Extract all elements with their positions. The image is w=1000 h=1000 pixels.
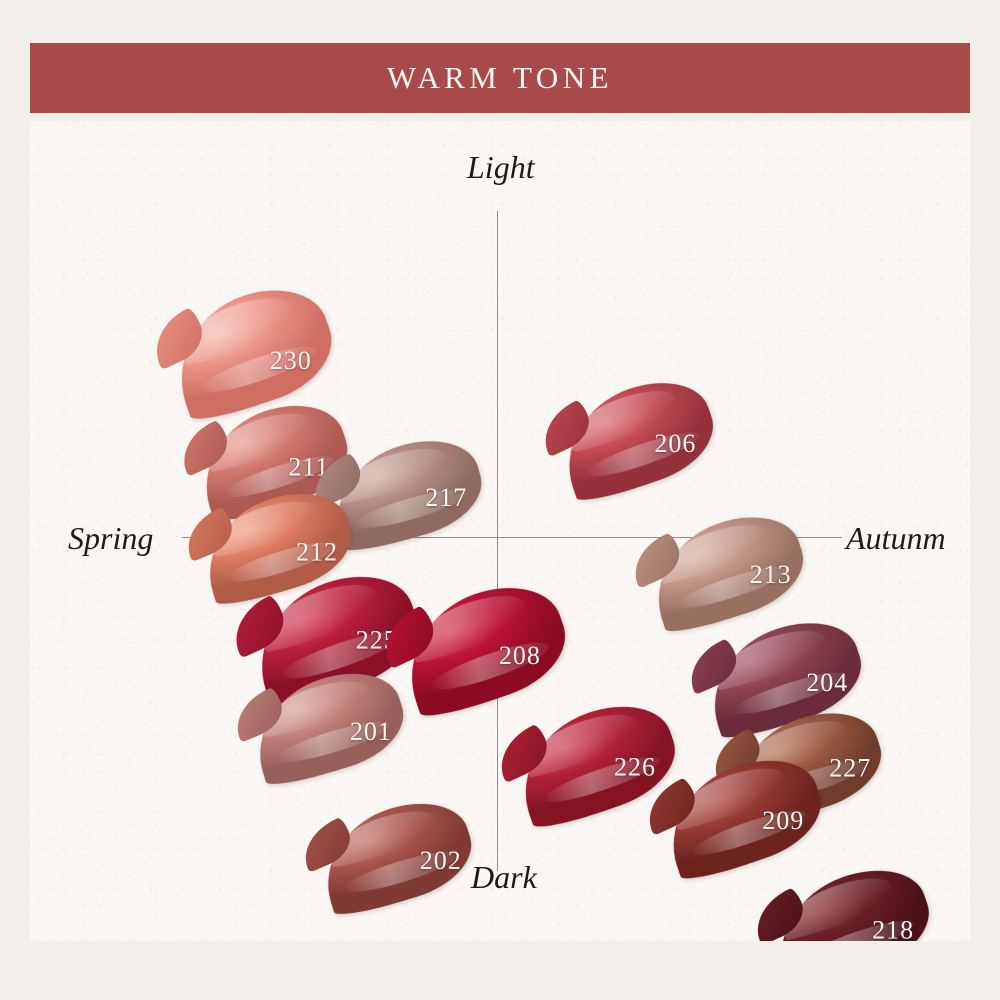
shade-chart-page: WARM TONE Light Dark Spring Autunm 23021… — [0, 0, 1000, 1000]
lipstick-swatch-213[interactable]: 213 — [639, 502, 815, 639]
lipstick-swatch-206[interactable]: 206 — [549, 367, 726, 508]
swatch-smear — [549, 367, 726, 508]
axis-label-autumn: Autunm — [846, 520, 946, 557]
page-title: WARM TONE — [387, 60, 613, 96]
axis-label-dark: Dark — [471, 859, 537, 896]
lipstick-swatch-218[interactable]: 218 — [761, 854, 942, 941]
swatch-smear — [389, 570, 579, 724]
chart-panel: Light Dark Spring Autunm 230211217212225… — [30, 121, 970, 941]
vertical-axis-line — [497, 211, 498, 871]
header-banner: WARM TONE — [30, 43, 970, 113]
swatch-smear — [310, 789, 482, 921]
swatch-smear — [761, 854, 942, 941]
axis-label-light: Light — [467, 149, 535, 186]
lipstick-swatch-208[interactable]: 208 — [389, 570, 579, 724]
axis-label-spring: Spring — [68, 520, 153, 557]
swatch-smear — [639, 502, 815, 639]
lipstick-swatch-202[interactable]: 202 — [310, 789, 482, 921]
